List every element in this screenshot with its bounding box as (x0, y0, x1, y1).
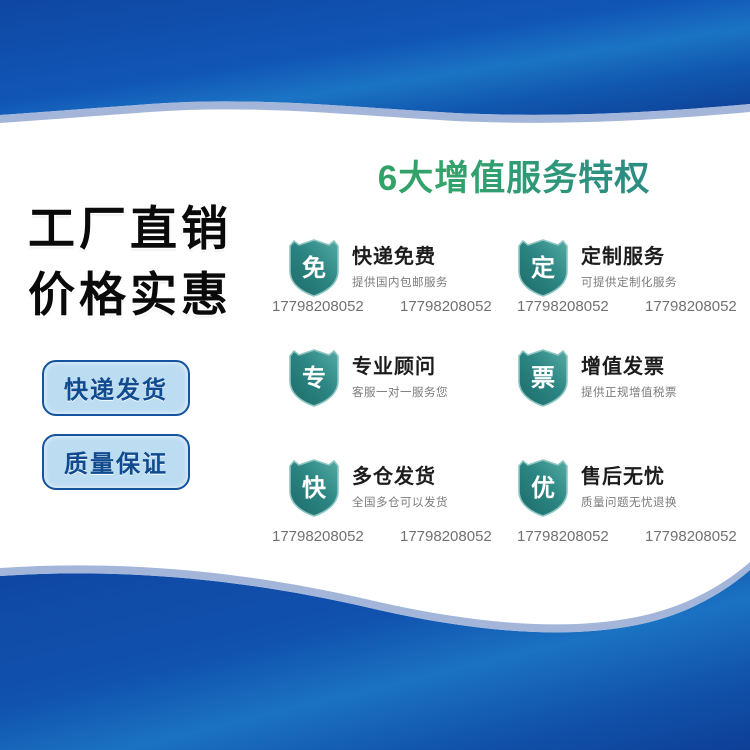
shield-custom-service-icon: 定 (517, 239, 569, 297)
shield-expert-advisor-icon: 专 (288, 349, 340, 407)
watermark-text: 17798208052 (400, 528, 492, 545)
shield-glyph: 专 (288, 349, 340, 407)
shield-after-sales-icon: 优 (517, 459, 569, 517)
feature-text: 售后无忧 质量问题无忧退换 (581, 466, 677, 510)
shield-glyph: 优 (517, 459, 569, 517)
watermark-text: 17798208052 (517, 528, 609, 545)
feature-subtitle: 提供国内包邮服务 (352, 274, 448, 290)
headline-line-1: 工厂直销 (0, 196, 268, 262)
feature-title: 售后无忧 (581, 466, 677, 489)
feature-text: 快递免费 提供国内包邮服务 (352, 246, 448, 290)
watermark-text: 17798208052 (272, 528, 364, 545)
feature-title: 定制服务 (581, 246, 677, 269)
top-wave-decoration (0, 0, 750, 160)
shield-glyph: 免 (288, 239, 340, 297)
feature-title: 专业顾问 (352, 356, 448, 379)
section-title: 6大增值服务特权 (278, 150, 750, 201)
left-headline-block: 工厂直销 价格实惠 快递发货 质量保证 (0, 196, 268, 508)
feature-text: 专业顾问 客服一对一服务您 (352, 356, 448, 400)
watermark-text: 17798208052 (645, 528, 737, 545)
feature-item-after-sales[interactable]: 优 售后无忧 质量问题无忧退换 (517, 459, 738, 517)
feature-subtitle: 可提供定制化服务 (581, 274, 677, 290)
feature-subtitle: 全国多仓可以发货 (352, 494, 448, 510)
shield-free-shipping-icon: 免 (288, 239, 340, 297)
feature-title: 快递免费 (352, 246, 448, 269)
feature-title: 多仓发货 (352, 466, 448, 489)
bottom-wave-svg (0, 530, 750, 750)
feature-item-vat-invoice[interactable]: 票 增值发票 提供正规增值税票 (517, 349, 738, 407)
feature-item-custom-service[interactable]: 定 定制服务 可提供定制化服务 (517, 239, 738, 297)
feature-grid: 免 快递免费 提供国内包邮服务 定 定制服务 可提供定制化服务 (268, 239, 750, 517)
bottom-wave-decoration (0, 530, 750, 750)
shield-glyph: 票 (517, 349, 569, 407)
shield-multi-warehouse-icon: 快 (288, 459, 340, 517)
badge-quality-guarantee[interactable]: 质量保证 (42, 434, 190, 490)
promo-banner: 工厂直销 价格实惠 快递发货 质量保证 6大增值服务特权 (0, 0, 750, 750)
feature-title: 增值发票 (581, 356, 677, 379)
top-wave-svg (0, 0, 750, 160)
top-wave-fill (0, 0, 750, 115)
feature-item-free-shipping[interactable]: 免 快递免费 提供国内包邮服务 (288, 239, 509, 297)
feature-text: 多仓发货 全国多仓可以发货 (352, 466, 448, 510)
badge-express-shipping[interactable]: 快递发货 (42, 360, 190, 416)
features-panel: 6大增值服务特权 免 (268, 150, 750, 517)
bottom-wave-highlight (0, 562, 750, 632)
feature-subtitle: 质量问题无忧退换 (581, 494, 677, 510)
shield-vat-invoice-icon: 票 (517, 349, 569, 407)
headline-line-2: 价格实惠 (0, 262, 268, 328)
top-wave-highlight (0, 101, 750, 123)
feature-item-multi-warehouse[interactable]: 快 多仓发货 全国多仓可以发货 (288, 459, 509, 517)
badge-list: 快递发货 质量保证 (0, 360, 268, 508)
feature-subtitle: 提供正规增值税票 (581, 384, 677, 400)
feature-item-expert-advisor[interactable]: 专 专业顾问 客服一对一服务您 (288, 349, 509, 407)
feature-text: 定制服务 可提供定制化服务 (581, 246, 677, 290)
feature-text: 增值发票 提供正规增值税票 (581, 356, 677, 400)
feature-subtitle: 客服一对一服务您 (352, 384, 448, 400)
shield-glyph: 快 (288, 459, 340, 517)
shield-glyph: 定 (517, 239, 569, 297)
bottom-wave-fill (0, 570, 750, 750)
